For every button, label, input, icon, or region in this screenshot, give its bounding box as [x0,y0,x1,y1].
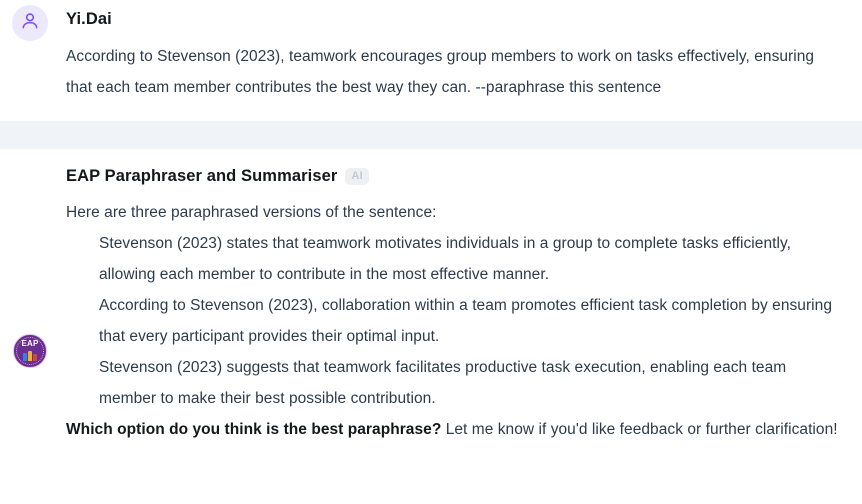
assistant-closing-line: Which option do you think is the best pa… [66,414,844,445]
assistant-closing-question: Which option do you think is the best pa… [66,421,441,438]
assistant-intro-line: Here are three paraphrased versions of t… [66,197,844,228]
assistant-sender-name: EAP Paraphraser and Summariser [66,167,337,186]
paraphrase-option-2: According to Stevenson (2023), collabora… [99,290,844,352]
assistant-sender-row: EAP Paraphraser and Summariser AI [66,163,844,189]
chat-transcript: Yi.Dai According to Stevenson (2023), te… [0,0,862,504]
paraphrase-option-1: Stevenson (2023) states that teamwork mo… [99,228,844,290]
eap-logo-icon: EAP [13,334,47,368]
user-message-content: Yi.Dai According to Stevenson (2023), te… [66,6,852,103]
assistant-message-body: Here are three paraphrased versions of t… [66,197,844,445]
user-message-text: According to Stevenson (2023), teamwork … [66,41,844,103]
eap-logo-figures [23,349,37,361]
user-avatar [12,5,48,41]
message-divider-band [0,121,862,149]
message-user: Yi.Dai According to Stevenson (2023), te… [0,0,862,103]
user-message-spacer [0,103,862,121]
assistant-closing-rest: Let me know if you'd like feedback or fu… [441,421,837,438]
message-assistant: EAP EAP Paraphraser and Summariser AI He… [0,149,862,445]
paraphrase-option-3: Stevenson (2023) suggests that teamwork … [99,352,844,414]
eap-logo-text: EAP [21,340,38,348]
assistant-message-content: EAP Paraphraser and Summariser AI Here a… [66,163,852,445]
person-icon [19,10,41,37]
assistant-avatar: EAP [12,333,48,369]
user-sender-name: Yi.Dai [66,10,112,29]
ai-badge: AI [345,168,369,185]
user-sender-row: Yi.Dai [66,6,844,32]
